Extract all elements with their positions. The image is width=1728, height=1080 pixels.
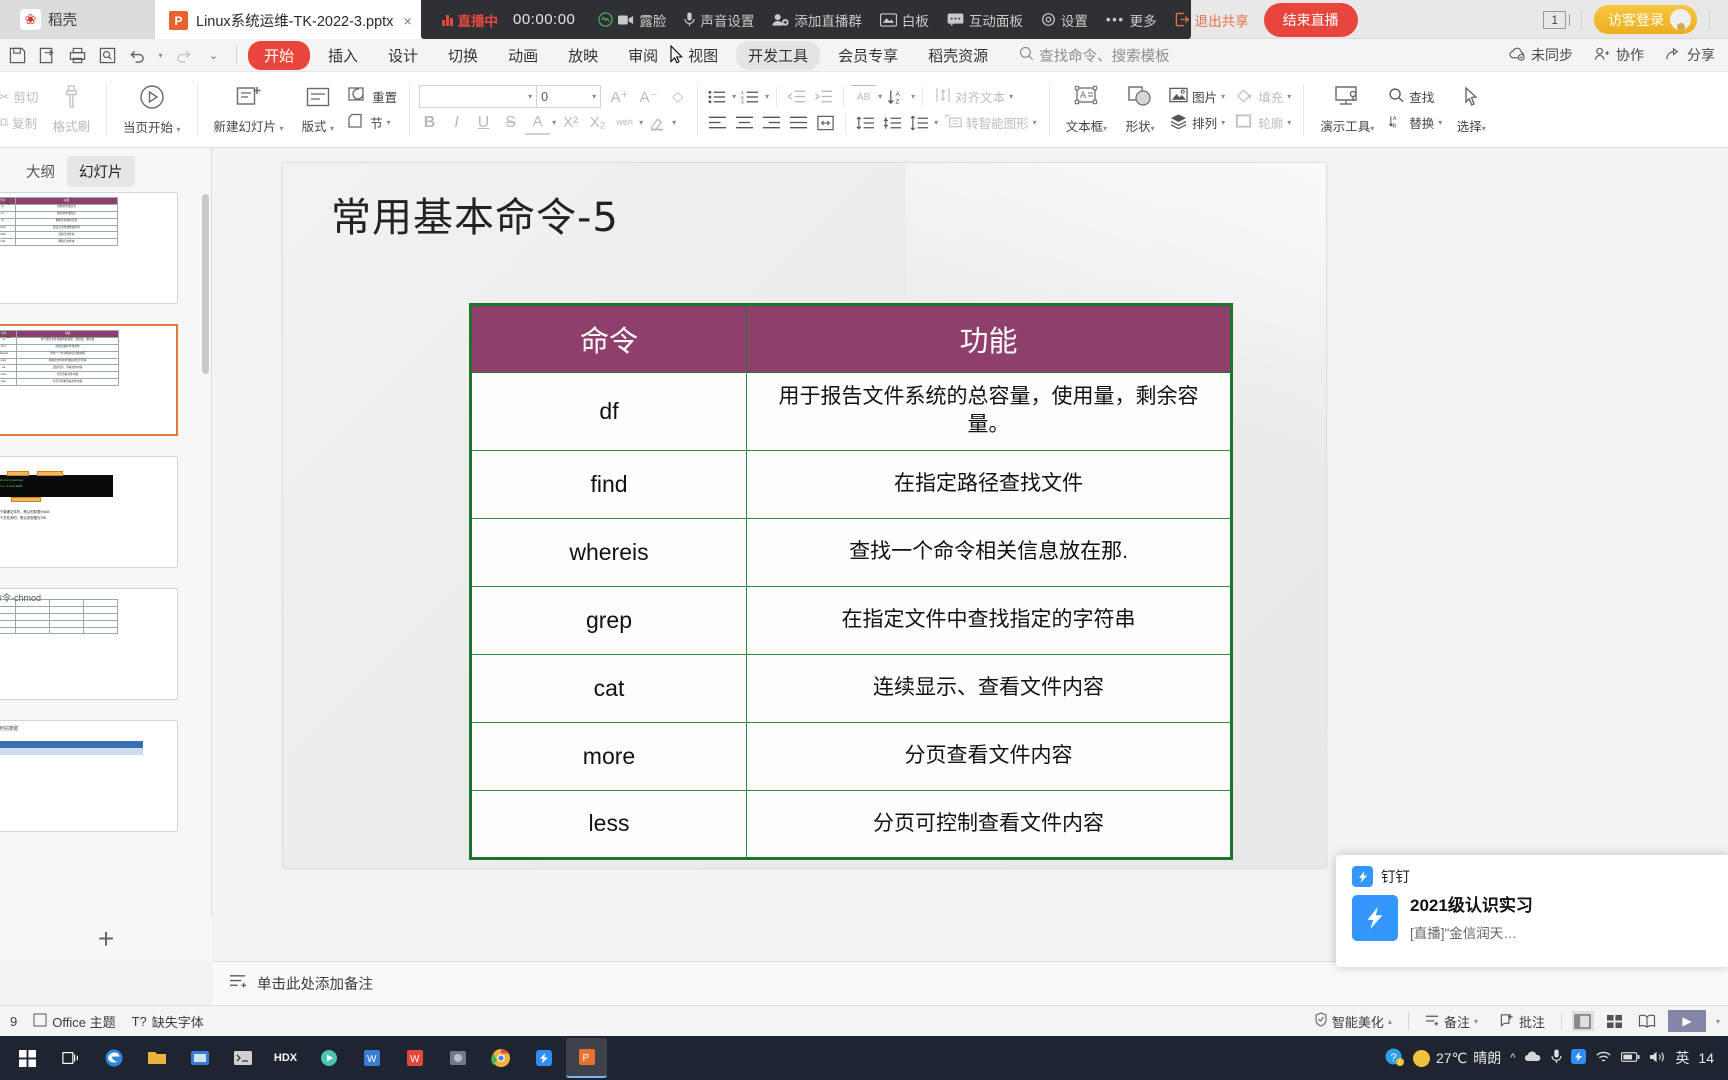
ribbon-toolbar: ✂ 剪切 ⧉ 复制 格式刷 当页开始 ▾ — [0, 72, 1728, 148]
smart-beautify-button[interactable]: 智能美化 ▴ — [1308, 1010, 1398, 1033]
dingtalk-notification-popup[interactable]: 钉钉 2021级认识实习 [直播]"金信润天… — [1336, 855, 1728, 967]
section-icon — [348, 113, 366, 132]
daoke-home-button[interactable]: ❀ 稻壳 — [0, 0, 155, 38]
divider — [409, 84, 410, 136]
hdx-icon[interactable]: HDX — [265, 1038, 306, 1078]
format-painter-icon — [60, 84, 83, 113]
folder-icon[interactable] — [179, 1038, 220, 1078]
daoke-logo-icon: ❀ — [20, 9, 41, 30]
table-row[interactable]: find在指定路径查找文件 — [471, 450, 1232, 518]
ribbon-group-slides: 新建幻灯片 ▾ 版式 ▾ 重置 节 — [205, 74, 418, 146]
thumb-table-cell: 分页查看文件内容 — [17, 372, 119, 379]
start-slideshow-button[interactable]: ▶ — [1668, 1010, 1706, 1032]
list-row: ▾ 123 ▾ AB ▾ AZ — [705, 85, 1042, 109]
find-label: 查找 — [1409, 87, 1434, 106]
virtual-machine-icon[interactable] — [437, 1038, 478, 1078]
thumb-table-row: whereis查找一个命令相关信息放在那 — [0, 351, 119, 358]
thumb-caption-7: 命令-chmod — [0, 591, 41, 604]
thumb-table-cell: grep — [0, 358, 17, 365]
font-name-input[interactable]: ▾ — [419, 85, 537, 108]
table-cell-command: cat — [471, 654, 747, 722]
reset-icon — [348, 86, 368, 107]
weather-condition: 晴朗 — [1473, 1048, 1501, 1068]
menu-bar-right: 未同步 协作 分享 — [1500, 42, 1728, 68]
live-more-button[interactable]: ••• 更多 — [1097, 0, 1166, 39]
textbox-button[interactable]: A 文本框▾ — [1057, 85, 1117, 135]
temperature: 27℃ — [1436, 1050, 1467, 1067]
chrome-icon[interactable] — [480, 1038, 521, 1078]
bold-button[interactable]: B — [417, 111, 442, 135]
thumb-table-cell: 建立空文件或修改时间 — [16, 225, 118, 232]
tab-slideshow[interactable]: 放映 — [556, 41, 610, 70]
camera-icon — [618, 14, 634, 26]
avatar — [1670, 9, 1691, 30]
bullet-list-icon[interactable] — [705, 85, 730, 109]
distribute-icon[interactable] — [813, 111, 838, 135]
add-note-icon — [229, 973, 248, 994]
textbox-icon: A — [1073, 85, 1099, 113]
format-painter-label: 格式刷 — [53, 116, 91, 135]
find-icon — [1388, 87, 1405, 106]
presentation-tools-button[interactable]: 演示工具▾ — [1311, 85, 1383, 135]
convert-to-smartart-button[interactable]: 转智能图形▾ — [940, 111, 1042, 135]
live-camera-button[interactable]: 露脸 — [589, 0, 675, 39]
highlight-icon[interactable] — [645, 111, 670, 135]
signal-bars-icon — [442, 13, 453, 26]
shapes-label: 形状▾ — [1126, 116, 1155, 135]
divider — [106, 84, 107, 136]
divider — [1581, 10, 1582, 30]
wps-doc-icon[interactable]: W — [394, 1038, 435, 1078]
thumb-table-cell: 复制文件或目录 — [16, 204, 118, 211]
dingtalk-icon — [1352, 866, 1373, 887]
add-group-icon — [772, 13, 789, 27]
reset-button[interactable]: 重置 — [343, 85, 402, 109]
svg-text:A: A — [1080, 90, 1086, 100]
text-direction-ab-icon[interactable]: AB — [851, 85, 876, 109]
pinyin-guide-button[interactable]: wén — [612, 111, 637, 135]
terminal-icon[interactable] — [222, 1038, 263, 1078]
list-item[interactable]: 命令-chmod — [0, 588, 211, 700]
thumb-caption-4: 令-4 — [0, 195, 10, 208]
current-slide[interactable]: 常用基本命令-5 命令功能df用于报告文件系统的总容量，使用量，剩余容量。fin… — [283, 163, 1326, 868]
ribbon-group-start-here: 当页开始 ▾ — [114, 74, 205, 146]
wifi-icon[interactable] — [1595, 1050, 1612, 1067]
font-selectors: ▾ 0▾ — [419, 85, 601, 108]
chevron-up-icon[interactable]: ^ — [1510, 1052, 1515, 1064]
tab-developer-tools[interactable]: 开发工具 — [736, 41, 820, 70]
cut-button[interactable]: ✂ 剪切 — [0, 85, 44, 109]
table-cell-command: more — [471, 722, 747, 790]
increase-spacing-icon[interactable] — [853, 111, 878, 135]
subscript-button[interactable]: X₂ — [585, 111, 610, 135]
add-slide-button[interactable]: + — [0, 917, 212, 961]
tab-slides[interactable]: 幻灯片 — [67, 156, 135, 187]
end-live-button[interactable]: 结束直播 — [1264, 3, 1358, 37]
align-text-icon — [935, 87, 951, 106]
sync-status-label: 未同步 — [1531, 45, 1573, 65]
tab-design[interactable]: 设计 — [376, 41, 430, 70]
ribbon-group-font: ▾ 0▾ A⁺ A⁻ ◇ B I U S A ▾ X² — [417, 74, 705, 146]
search-icon — [1019, 46, 1034, 65]
tab-transition[interactable]: 切换 — [436, 41, 490, 70]
page-title[interactable]: 常用基本命令-5 — [331, 185, 619, 243]
title-bar: ❀ 稻壳 P Linux系统运维-TK-2022-3.pptx × 直播中 00… — [0, 0, 1728, 39]
missing-font-label: 缺失字体 — [152, 1012, 204, 1031]
section-label: 节 — [370, 113, 383, 132]
ribbon-group-clipboard: ✂ 剪切 ⧉ 复制 格式刷 — [0, 74, 114, 146]
missing-font-button[interactable]: T? 缺失字体 — [132, 1012, 204, 1031]
live-settings-button[interactable]: 设置 — [1032, 0, 1097, 39]
align-left-icon[interactable] — [705, 111, 730, 135]
decrease-font-size-icon[interactable]: A⁻ — [636, 85, 661, 109]
live-exit-share-button[interactable]: 退出共享 — [1166, 0, 1258, 39]
thumb-table-row: mkdir创建空文件夹 — [0, 232, 118, 239]
start-from-page-label: 当页开始 ▾ — [123, 117, 181, 136]
divider — [236, 46, 237, 64]
thumb-table-cell: 创建空文件夹 — [16, 232, 118, 239]
sort-icon[interactable]: AZ — [884, 85, 909, 109]
layout-label: 版式 ▾ — [302, 116, 335, 135]
format-painter-button[interactable]: 格式刷 — [44, 84, 100, 135]
battery-icon[interactable] — [1621, 1051, 1640, 1066]
thumb-table-cell: 连续显示、查看文件内容 — [17, 365, 119, 372]
decrease-spacing-icon[interactable] — [880, 111, 905, 135]
wps-writer-icon[interactable]: W — [351, 1038, 392, 1078]
comments-icon — [1500, 1013, 1515, 1030]
align-right-icon[interactable] — [759, 111, 784, 135]
thumb-table-row: less分页可控制查看文件内容 — [0, 379, 119, 386]
live-stream-toolbar: 直播中 00:00:00 露脸 声音设置 — [421, 0, 1191, 39]
svg-text:W: W — [367, 1054, 377, 1065]
guest-login-button[interactable]: 访客登录 — [1594, 5, 1697, 34]
guest-login-label: 访客登录 — [1608, 10, 1664, 30]
theme-label: Office 主题 — [52, 1012, 115, 1031]
tab-view[interactable]: 视图 — [676, 41, 730, 70]
live-interaction-label: 互动面板 — [969, 10, 1023, 30]
onedrive-icon[interactable] — [1524, 1050, 1542, 1066]
popup-app-name: 钉钉 — [1381, 866, 1410, 887]
live-whiteboard-button[interactable]: 白板 — [871, 0, 938, 39]
collaborate-label: 协作 — [1616, 45, 1644, 65]
print-icon[interactable] — [64, 43, 91, 68]
thumb-table-cell: more — [0, 372, 17, 379]
thumb-table-cell: 删除空文件夹 — [16, 239, 118, 246]
new-slide-button[interactable]: 新建幻灯片 ▾ — [205, 85, 293, 135]
table-cell-function: 分页查看文件内容 — [747, 722, 1232, 790]
table-cell-command: less — [471, 790, 747, 858]
copy-button[interactable]: ⧉ 复制 — [0, 111, 44, 135]
save-as-icon[interactable] — [34, 43, 61, 68]
decrease-indent-icon[interactable] — [784, 85, 809, 109]
popup-title: 2021级认识实习 — [1410, 896, 1533, 915]
select-icon — [1459, 85, 1483, 113]
fill-button[interactable]: 填充▾ — [1230, 85, 1296, 109]
arrange-icon — [1169, 113, 1188, 132]
whiteboard-icon — [880, 13, 897, 27]
live-more-label: 更多 — [1130, 10, 1157, 30]
dingtalk-taskbar-icon[interactable] — [523, 1038, 564, 1078]
new-slide-label: 新建幻灯片 ▾ — [214, 116, 284, 135]
panel-scrollbar[interactable] — [202, 194, 209, 374]
explorer-icon[interactable] — [136, 1038, 177, 1078]
notes-pane[interactable]: 单击此处添加备注 — [213, 961, 1728, 1005]
shapes-button[interactable]: 形状▾ — [1116, 85, 1164, 135]
popup-subtitle: [直播]"金信润天… — [1410, 922, 1533, 942]
sun-icon — [1413, 1050, 1430, 1067]
table-row[interactable]: grep在指定文件中查找指定的字符串 — [471, 586, 1232, 654]
new-slide-icon — [236, 85, 262, 113]
live-whiteboard-label: 白板 — [902, 10, 929, 30]
mouse-cursor — [670, 45, 684, 64]
list-item[interactable]: 令-4 命令功能 cp复制文件或目录mv移动文件或改名rm删除文件或者目录tou… — [0, 192, 211, 304]
svg-text:P: P — [582, 1053, 589, 1064]
panel-tabs: 大纲 幻灯片 — [0, 148, 211, 193]
table-row[interactable]: df用于报告文件系统的总容量，使用量，剩余容量。 — [471, 373, 1232, 451]
undo-dropdown-icon[interactable]: ▾ — [154, 43, 167, 68]
live-settings-label: 设置 — [1061, 10, 1088, 30]
missing-font-icon: T? — [132, 1014, 147, 1029]
live-sound-button[interactable]: 声音设置 — [675, 0, 763, 39]
reading-view-icon[interactable] — [1636, 1011, 1658, 1031]
menu-bar: ▾ ⌄ 开始 插入 设计 切换 动画 放映 审阅 视图 开发工具 会员专享 稻壳… — [0, 39, 1728, 72]
table-row[interactable]: less分页可控制查看文件内容 — [471, 790, 1232, 858]
thumb-caption-8: 实用快捷键 — [0, 725, 18, 732]
replace-button[interactable]: AB 替换▾ — [1383, 111, 1447, 135]
windows-taskbar: HDX W W P ?! 27℃ 晴朗 — [0, 1036, 1728, 1080]
pinyin-label: wén — [616, 118, 633, 127]
thumb-table-row: mv移动文件或改名 — [0, 211, 118, 218]
list-item[interactable]: 令-5 命令功能 df用于报告文件系统的总容量，使用量，剩余量find在指定路径… — [0, 324, 211, 436]
table-row[interactable]: more分页查看文件内容 — [471, 722, 1232, 790]
weather-widget[interactable]: 27℃ 晴朗 — [1413, 1048, 1501, 1068]
clear-format-icon[interactable]: ◇ — [665, 85, 690, 109]
font-size-input[interactable]: 0▾ — [537, 85, 601, 108]
select-label: 选择▾ — [1457, 116, 1486, 135]
tab-review[interactable]: 审阅 — [616, 41, 670, 70]
superscript-button[interactable]: X² — [558, 111, 583, 135]
wps-presentation-icon[interactable]: P — [566, 1038, 607, 1078]
thumb-table-5: 命令功能 df用于报告文件系统的总容量，使用量，剩余量find在指定路径查找文件… — [0, 330, 119, 386]
align-row: ▾ 转智能图形▾ — [705, 111, 1042, 135]
live-timer: 00:00:00 — [507, 11, 589, 28]
clock[interactable]: 14 — [1698, 1050, 1714, 1066]
thumb-caption-5: 令-5 — [0, 328, 11, 341]
select-button[interactable]: 选择▾ — [1447, 85, 1495, 135]
strikethrough-button[interactable]: S — [498, 111, 523, 135]
svg-text:?: ? — [1390, 1052, 1396, 1064]
notes-toggle-button[interactable]: 备注 ▾ — [1419, 1010, 1484, 1033]
thumb-table-row: cp复制文件或目录 — [0, 204, 118, 211]
chevron-up-icon[interactable]: ▴ — [1388, 1017, 1392, 1026]
tab-outline[interactable]: 大纲 — [14, 156, 67, 187]
ime-indicator[interactable]: 英 — [1675, 1048, 1689, 1068]
start-from-page-button[interactable]: 当页开始 ▾ — [114, 84, 190, 136]
notes-icon — [1425, 1013, 1440, 1030]
justify-icon[interactable] — [786, 111, 811, 135]
list-item[interactable]: 实用快捷键 — [0, 720, 211, 832]
popup-body: 2021级认识实习 [直播]"金信润天… — [1336, 893, 1728, 942]
list-item[interactable]: drwxr-xr-x 2 root root -rw-r--r-- 1 root… — [0, 456, 211, 568]
underline-button[interactable]: U — [471, 111, 496, 135]
thumb-table-4: 命令功能 cp复制文件或目录mv移动文件或改名rm删除文件或者目录touch建立… — [0, 197, 118, 246]
slideshow-dropdown-icon[interactable]: ▾ — [1716, 1017, 1720, 1026]
tab-insert[interactable]: 插入 — [316, 41, 370, 70]
document-tab-label: Linux系统运维-TK-2022-3.pptx — [196, 10, 393, 31]
thumb-table-cell: rm — [0, 218, 16, 225]
svg-text:3: 3 — [741, 99, 744, 104]
share-button[interactable]: 分享 — [1656, 42, 1724, 68]
slide-thumbnail-8[interactable]: 实用快捷键 — [0, 720, 178, 832]
picture-button[interactable]: 图片▾ — [1164, 85, 1230, 109]
popup-header: 钉钉 — [1336, 855, 1728, 893]
layout-button[interactable]: 版式 ▾ — [293, 85, 344, 135]
slide-thumbnail-5[interactable]: 令-5 命令功能 df用于报告文件系统的总容量，使用量，剩余量find在指定路径… — [0, 324, 178, 436]
scissors-icon: ✂ — [0, 89, 9, 104]
microphone-icon — [684, 12, 695, 27]
table-cell-function: 在指定路径查找文件 — [747, 450, 1232, 518]
thumb-table-cell: find — [0, 344, 17, 351]
undo-icon[interactable] — [124, 43, 151, 68]
tab-start[interactable]: 开始 — [248, 41, 310, 70]
quick-access-toolbar: ▾ ⌄ — [0, 43, 245, 68]
thumb-table-row: cat连续显示、查看文件内容 — [0, 365, 119, 372]
wps-presentation-window: ❀ 稻壳 P Linux系统运维-TK-2022-3.pptx × 直播中 00… — [0, 0, 1728, 1080]
ellipsis-icon: ••• — [1106, 12, 1125, 27]
align-text-button[interactable]: 对齐文本▾ — [930, 85, 1018, 109]
help-icon[interactable]: ?! — [1384, 1047, 1404, 1070]
table-row[interactable]: whereis查找一个命令相关信息放在那. — [471, 518, 1232, 586]
svg-text:Z: Z — [896, 98, 900, 104]
presentation-tools-label: 演示工具▾ — [1320, 116, 1374, 135]
arrange-button[interactable]: 排列▾ — [1164, 111, 1230, 135]
normal-view-icon[interactable] — [1572, 1011, 1594, 1031]
tab-animation[interactable]: 动画 — [496, 41, 550, 70]
volume-icon[interactable] — [1649, 1050, 1666, 1067]
thumb-table-row: more分页查看文件内容 — [0, 372, 119, 379]
notes-label: 备注 — [1444, 1012, 1470, 1031]
font-color-button[interactable]: A — [525, 111, 550, 135]
smartart-label: 转智能图形 — [966, 113, 1029, 132]
live-add-group-button[interactable]: 添加直播群 — [763, 0, 871, 39]
media-icon[interactable] — [308, 1038, 349, 1078]
notes-placeholder: 单击此处添加备注 — [257, 973, 373, 994]
thumb-table-cell: mv — [0, 211, 16, 218]
dingtalk-tray-icon[interactable] — [1571, 1049, 1586, 1067]
windows-start-icon[interactable] — [7, 1038, 48, 1078]
theme-button[interactable]: Office 主题 — [33, 1012, 115, 1031]
command-table[interactable]: 命令功能df用于报告文件系统的总容量，使用量，剩余容量。find在指定路径查找文… — [469, 303, 1233, 860]
table-cell-command: df — [471, 373, 747, 451]
thumb-table-row: rm删除文件或者目录 — [0, 218, 118, 225]
search-placeholder: 查找命令、搜索模板 — [1039, 45, 1170, 66]
record-circle-icon — [598, 12, 613, 27]
thumb-table-cell: 移动文件或改名 — [16, 211, 118, 218]
ribbon-group-paragraph: ▾ 123 ▾ AB ▾ AZ — [705, 74, 1057, 146]
table-cell-function: 在指定文件中查找指定的字符串 — [747, 586, 1232, 654]
thumb-table-cell: 删除文件或者目录 — [16, 218, 118, 225]
share-icon — [1665, 47, 1682, 64]
table-row[interactable]: cat连续显示、查看文件内容 — [471, 654, 1232, 722]
collaborate-button[interactable]: 协作 — [1585, 42, 1653, 68]
increase-indent-icon[interactable] — [811, 85, 836, 109]
slide-thumbnail-6[interactable]: drwxr-xr-x 2 root root -rw-r--r-- 1 root… — [0, 456, 178, 568]
divider — [1049, 84, 1050, 136]
align-center-icon[interactable] — [732, 111, 757, 135]
close-icon[interactable]: × — [403, 13, 411, 29]
customize-qat-chevron-down-icon[interactable]: ⌄ — [200, 43, 227, 68]
presentation-tools-icon — [1333, 85, 1361, 113]
task-view-icon[interactable] — [50, 1038, 91, 1078]
italic-button[interactable]: I — [444, 111, 469, 135]
svg-text:B: B — [1393, 124, 1397, 129]
thumb-table-cell: 在指定文件中查找指定的字符串 — [17, 358, 119, 365]
window-count-badge[interactable]: 1 — [1543, 11, 1566, 29]
slide-thumbnail-4[interactable]: 令-4 命令功能 cp复制文件或目录mv移动文件或改名rm删除文件或者目录tou… — [0, 192, 178, 304]
thumb-table-row: touch建立空文件或修改时间 — [0, 225, 118, 232]
live-status-label: 直播中 — [458, 10, 499, 30]
increase-font-size-icon[interactable]: A⁺ — [607, 85, 632, 109]
section-button[interactable]: 节 ▾ — [343, 111, 402, 135]
status-bar: 9 Office 主题 T? 缺失字体 智能美化 ▴ — [0, 1005, 1728, 1036]
comments-label: 批注 — [1519, 1012, 1545, 1031]
divider — [1709, 10, 1710, 30]
document-tab[interactable]: P Linux系统运维-TK-2022-3.pptx × — [155, 0, 424, 39]
thumb-table-cell: whereis — [0, 351, 17, 358]
thumb-table-cell: 分页可控制查看文件内容 — [17, 379, 119, 386]
copy-icon: ⧉ — [0, 115, 8, 130]
replace-icon: AB — [1388, 113, 1405, 132]
print-preview-icon[interactable] — [94, 43, 121, 68]
live-status: 直播中 — [433, 0, 507, 39]
search-input[interactable]: 查找命令、搜索模板 — [1019, 45, 1170, 66]
live-interaction-panel-button[interactable]: 互动面板 — [938, 0, 1032, 39]
system-tray: ?! 27℃ 晴朗 ^ — [1384, 1047, 1722, 1070]
numbered-list-icon[interactable]: 123 — [738, 85, 763, 109]
tab-member-exclusive[interactable]: 会员专享 — [826, 41, 910, 70]
find-button[interactable]: 查找 — [1383, 85, 1447, 109]
status-bar-left: 9 Office 主题 T? 缺失字体 — [0, 1012, 204, 1031]
edge-icon[interactable] — [93, 1038, 134, 1078]
picture-icon — [1169, 87, 1188, 106]
sync-status-button[interactable]: 未同步 — [1500, 42, 1582, 68]
replace-label: 替换 — [1409, 113, 1434, 132]
slide-thumbnail-list: 令-4 命令功能 cp复制文件或目录mv移动文件或改名rm删除文件或者目录tou… — [0, 192, 211, 961]
thumb-table-row: grep在指定文件中查找指定的字符串 — [0, 358, 119, 365]
popup-avatar — [1352, 895, 1398, 941]
slide-sorter-icon[interactable] — [1604, 1011, 1626, 1031]
picture-label: 图片 — [1192, 87, 1217, 106]
redo-icon[interactable] — [170, 43, 197, 68]
microphone-icon[interactable] — [1551, 1049, 1562, 1067]
beautify-icon — [1314, 1012, 1328, 1030]
save-icon[interactable] — [4, 43, 31, 68]
tab-daoke-resources[interactable]: 稻壳资源 — [916, 41, 1000, 70]
thumb-table-cell: less — [0, 379, 17, 386]
arrange-label: 排列 — [1192, 113, 1217, 132]
outline-button[interactable]: 轮廓▾ — [1230, 111, 1296, 135]
slide-thumbnail-7[interactable]: 命令-chmod — [0, 588, 178, 700]
comments-button[interactable]: 批注 — [1494, 1010, 1551, 1033]
ribbon-group-tools: 演示工具▾ 查找 AB 替换▾ — [1311, 74, 1495, 146]
line-spacing-icon[interactable] — [907, 111, 932, 135]
font-style-row: B I U S A ▾ X² X₂ wén ▾ ▾ — [417, 111, 690, 135]
fill-label: 填充 — [1258, 87, 1283, 106]
thumb-table-cell: cat — [0, 365, 17, 372]
theme-icon — [33, 1013, 47, 1030]
daoke-home-label: 稻壳 — [48, 9, 77, 30]
collaborate-icon — [1594, 47, 1611, 64]
